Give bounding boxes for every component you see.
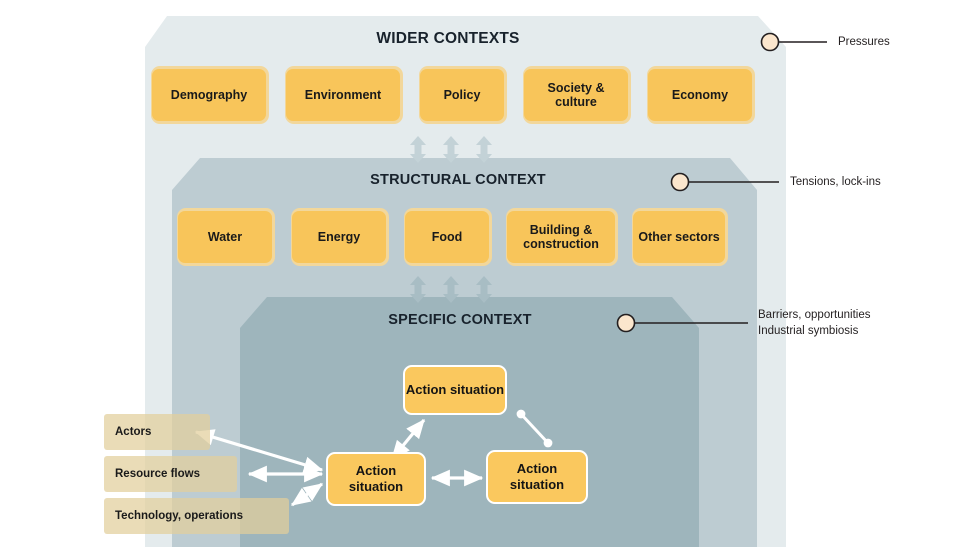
callout-dot-pressures [762,34,779,51]
callout-tensions-lockins: Tensions, lock-ins [790,175,881,191]
callout-barriers-opportunities: Barriers, opportunities Industrial symbi… [758,308,871,339]
action-situation-left[interactable]: Action situation [326,452,426,506]
chip-building-construction[interactable]: Building & construction [507,211,615,263]
chip-environment[interactable]: Environment [286,69,400,121]
action-situation-top[interactable]: Action situation [403,365,507,415]
connector-endpoint-dot [517,410,526,419]
connector-endpoint-dot [544,439,553,448]
side-label-actors[interactable]: Actors [104,414,210,450]
wider-context-title: WIDER CONTEXTS [238,30,658,48]
structural-context-title: STRUCTURAL CONTEXT [258,172,658,188]
chip-food[interactable]: Food [405,211,489,263]
chip-economy[interactable]: Economy [648,69,752,121]
specific-context-shape [240,297,699,547]
chip-policy[interactable]: Policy [420,69,504,121]
side-label-resource-flows[interactable]: Resource flows [104,456,237,492]
chip-other-sectors[interactable]: Other sectors [633,211,725,263]
callout-pressures: Pressures [838,35,890,51]
diagram-canvas: WIDER CONTEXTS STRUCTURAL CONTEXT SPECIF… [0,0,963,547]
chip-society-culture[interactable]: Society & culture [524,69,628,121]
specific-context-title: SPECIFIC CONTEXT [280,312,640,328]
chip-water[interactable]: Water [178,211,272,263]
side-label-technology-operations[interactable]: Technology, operations [104,498,289,534]
chip-demography[interactable]: Demography [152,69,266,121]
chip-energy[interactable]: Energy [292,211,386,263]
callout-dot-tensions [672,174,689,191]
action-situation-right[interactable]: Action situation [486,450,588,504]
